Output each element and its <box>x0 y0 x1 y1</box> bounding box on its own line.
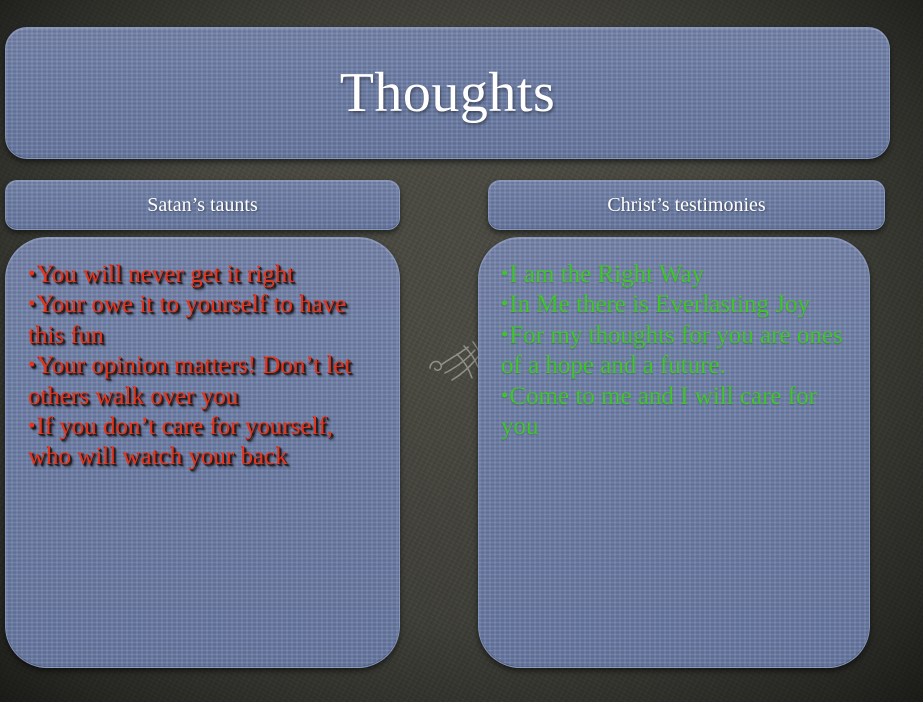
list-item: Come to me and I will care for you <box>501 382 851 443</box>
slide-title-panel: Thoughts <box>5 27 890 159</box>
list-item: I am the Right Way <box>501 260 851 290</box>
list-item: If you don’t care for yourself, who will… <box>28 412 381 473</box>
column-header-right: Christ’s testimonies <box>488 180 885 230</box>
presentation-slide: Thoughts Satan’s taunts Christ’s testimo… <box>0 0 923 702</box>
page-title: Thoughts <box>340 65 556 121</box>
column-header-left: Satan’s taunts <box>5 180 400 230</box>
column-header-right-label: Christ’s testimonies <box>607 195 765 215</box>
list-item: For my thoughts for you are ones of a ho… <box>501 321 851 382</box>
column-body-right: I am the Right Way In Me there is Everla… <box>478 237 870 668</box>
list-item: Your owe it to yourself to have this fun <box>28 290 381 351</box>
column-header-left-label: Satan’s taunts <box>147 195 258 215</box>
column-body-left: You will never get it right Your owe it … <box>5 237 400 668</box>
list-item: Your opinion matters! Don’t let others w… <box>28 351 381 412</box>
list-item: In Me there is Everlasting Joy <box>501 290 851 320</box>
bullet-list-right: I am the Right Way In Me there is Everla… <box>501 260 851 442</box>
list-item: You will never get it right <box>28 260 381 290</box>
bullet-list-left: You will never get it right Your owe it … <box>28 260 381 473</box>
